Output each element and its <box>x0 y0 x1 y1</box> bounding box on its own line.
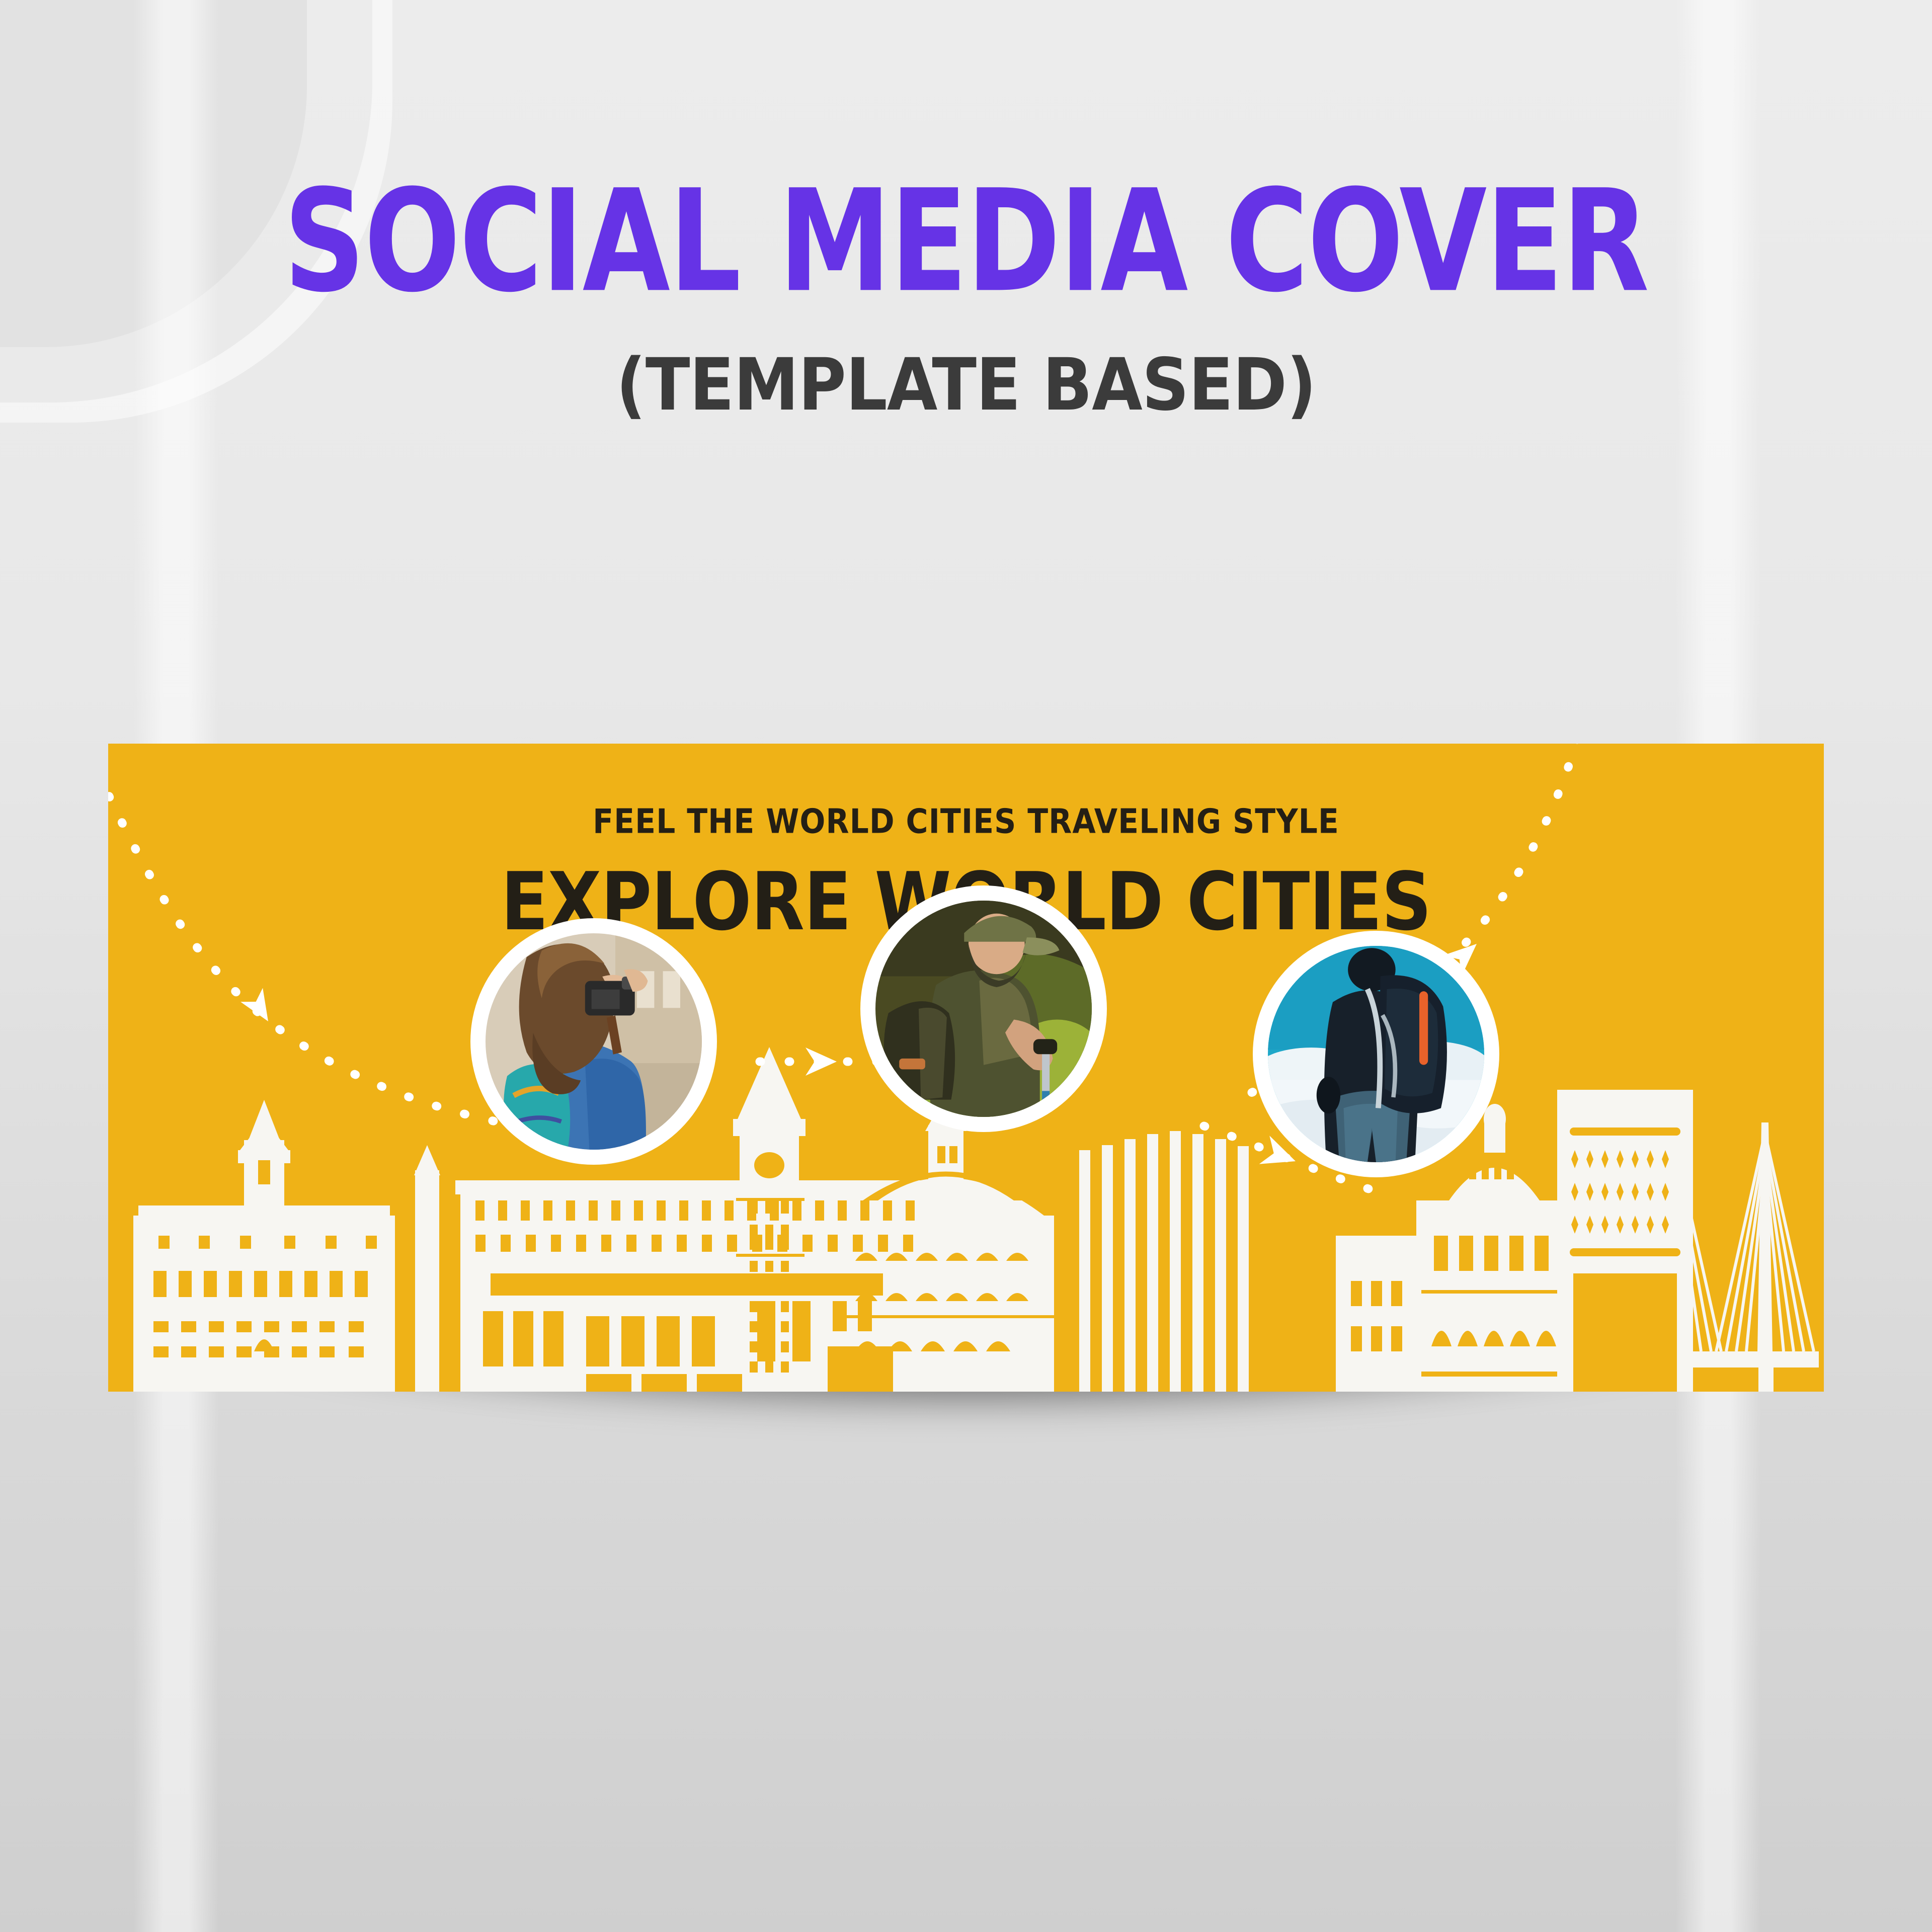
photo-3-illustration <box>1268 946 1484 1162</box>
arrowhead-left <box>240 988 279 1028</box>
arrowhead-middle-1 <box>806 1048 837 1076</box>
photo-circle-1[interactable] <box>470 918 717 1165</box>
photo-3-image <box>1268 946 1484 1162</box>
page-subtitle: (TEMPLATE BASED) <box>0 299 1932 421</box>
photo-circle-3[interactable] <box>1253 931 1499 1177</box>
poster-heading-block: SOCIAL MEDIA COVER (TEMPLATE BASED) <box>0 179 1932 415</box>
photo-2-illustration <box>875 901 1092 1117</box>
poster-canvas: SOCIAL MEDIA COVER (TEMPLATE BASED) <box>0 0 1932 1932</box>
photo-circle-2[interactable] <box>860 886 1107 1132</box>
photo-1-image <box>486 933 702 1150</box>
page-title: SOCIAL MEDIA COVER <box>0 171 1932 312</box>
photo-2-image <box>875 901 1092 1117</box>
photo-1-illustration <box>486 933 702 1150</box>
